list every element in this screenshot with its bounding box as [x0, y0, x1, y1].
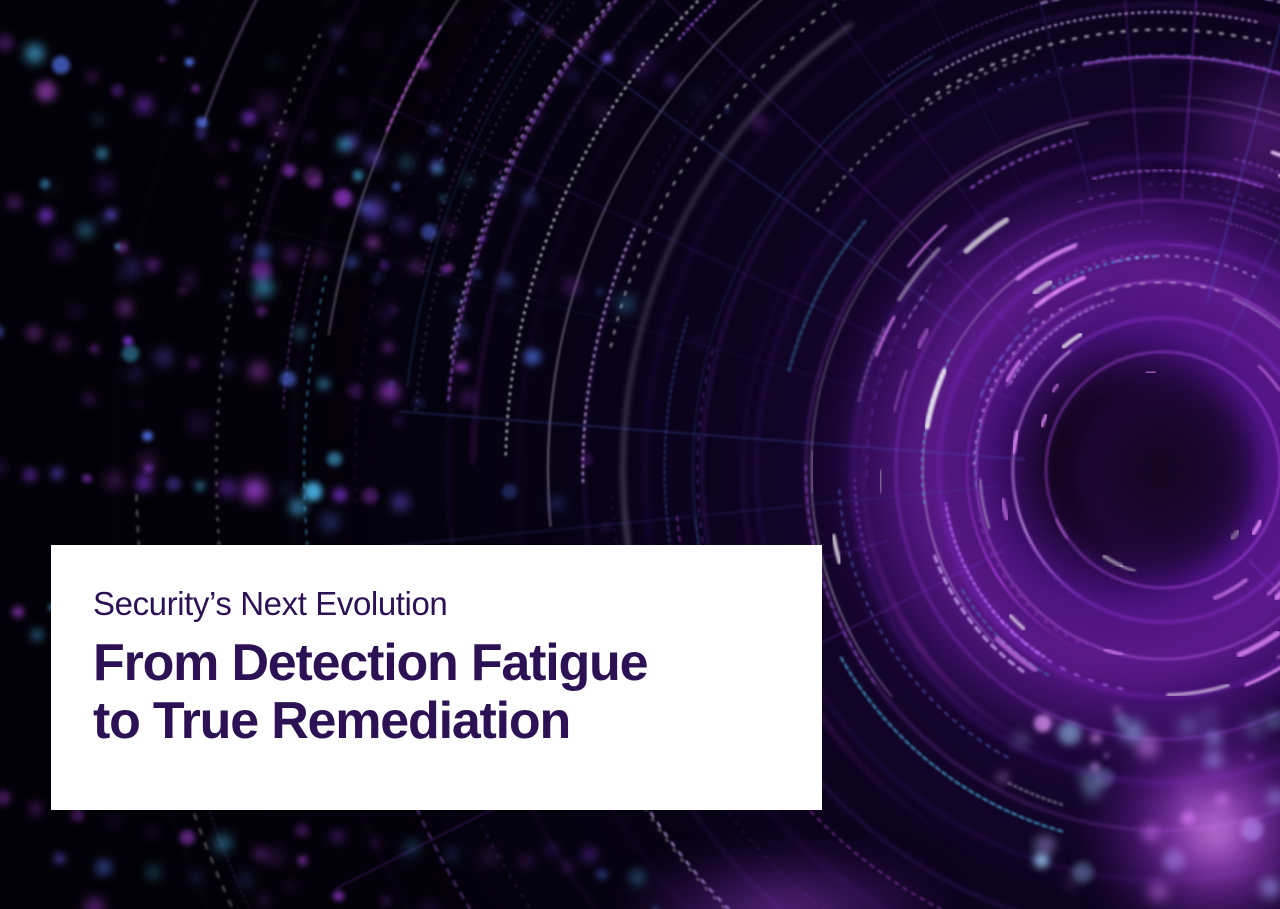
bokeh-dot	[332, 831, 343, 842]
bokeh-dot	[124, 260, 140, 276]
bokeh-dot	[1014, 733, 1028, 747]
bokeh-dot	[224, 293, 230, 299]
bokeh-dot	[697, 338, 702, 343]
bokeh-dot	[367, 150, 380, 163]
bokeh-dot	[289, 498, 307, 516]
bokeh-dot	[39, 208, 53, 222]
bokeh-dot	[397, 219, 408, 230]
bokeh-dot	[21, 408, 26, 413]
bokeh-dot	[513, 12, 523, 22]
bokeh-dot	[280, 371, 296, 387]
bokeh-dot	[360, 202, 371, 213]
bokeh-dot	[453, 297, 462, 306]
bokeh-dot	[111, 84, 124, 97]
bokeh-dot	[392, 182, 401, 191]
bokeh-dot	[88, 73, 96, 81]
bokeh-dot	[256, 149, 268, 161]
bokeh-dot	[94, 116, 101, 123]
bokeh-dot	[332, 176, 337, 181]
bokeh-dot	[1038, 836, 1054, 852]
bokeh-dot	[298, 856, 307, 865]
bokeh-dot	[254, 847, 267, 860]
bokeh-dot	[137, 98, 151, 112]
bokeh-dot	[533, 114, 540, 121]
bokeh-dot	[157, 351, 170, 364]
bokeh-dot	[287, 883, 293, 889]
bokeh-dot	[618, 296, 634, 312]
bokeh-dot	[227, 208, 233, 214]
bokeh-dot	[223, 361, 233, 371]
bokeh-dot	[285, 249, 297, 261]
bokeh-dot	[52, 56, 70, 74]
bokeh-dot	[1058, 722, 1081, 745]
bokeh-dot	[411, 262, 420, 271]
bokeh-dot	[108, 474, 120, 486]
bokeh-dot	[384, 343, 393, 352]
bokeh-dot	[441, 266, 449, 274]
bokeh-dot	[218, 177, 227, 186]
bokeh-dot	[419, 59, 429, 69]
bokeh-dot	[25, 44, 44, 63]
bokeh-dot	[82, 474, 91, 483]
bokeh-dot	[524, 193, 535, 204]
bokeh-dot	[267, 850, 281, 864]
bokeh-dot	[544, 28, 551, 35]
bokeh-dot	[431, 163, 443, 175]
bokeh-dot	[119, 302, 131, 314]
bokeh-dot	[353, 170, 364, 181]
bokeh-dot	[401, 157, 412, 168]
bokeh-dot	[0, 790, 11, 806]
bokeh-dot	[580, 453, 593, 466]
bokeh-dot	[48, 183, 58, 193]
bokeh-dot	[123, 336, 133, 346]
bokeh-dot	[596, 1, 601, 6]
bokeh-dot	[304, 482, 323, 501]
bokeh-dot	[293, 326, 307, 340]
hero-banner: Security’s Next Evolution From Detection…	[0, 0, 1280, 909]
bokeh-dot	[253, 296, 258, 301]
bokeh-dot	[508, 307, 512, 311]
bokeh-dot	[71, 808, 85, 822]
bokeh-dot	[71, 307, 79, 315]
bokeh-dot	[478, 235, 486, 243]
bokeh-dot	[9, 198, 19, 208]
bokeh-dot	[444, 224, 456, 236]
bokeh-dot	[1037, 713, 1055, 731]
bokeh-dot	[254, 278, 273, 297]
bokeh-dot	[380, 261, 389, 270]
bokeh-dot	[521, 856, 532, 867]
bokeh-dot	[344, 103, 354, 113]
bokeh-dot	[536, 280, 542, 286]
bokeh-dot	[473, 270, 481, 278]
bokeh-dot	[371, 838, 380, 847]
bokeh-dot	[400, 850, 411, 861]
bokeh-dot	[258, 96, 275, 113]
bokeh-dot	[362, 488, 378, 504]
bokeh-dot	[54, 853, 65, 864]
bokeh-dot	[463, 393, 473, 403]
bokeh-dot	[242, 111, 255, 124]
bokeh-dot	[369, 35, 379, 45]
bokeh-dot	[36, 81, 56, 101]
bokeh-dot	[694, 92, 703, 101]
bokeh-dot	[382, 897, 390, 905]
bokeh-dot	[1091, 733, 1101, 743]
bokeh-dot	[447, 850, 456, 859]
bokeh-dot	[166, 477, 181, 492]
bokeh-dot	[429, 125, 440, 136]
bokeh-dot	[423, 94, 429, 100]
bokeh-dot	[272, 124, 285, 137]
bokeh-dot	[502, 484, 517, 499]
bokeh-dot	[596, 288, 604, 296]
bokeh-dot	[259, 895, 269, 905]
bokeh-dot	[392, 307, 397, 312]
bokeh-dot	[465, 177, 471, 183]
bokeh-dot	[233, 237, 243, 247]
bokeh-dot	[122, 345, 139, 362]
bokeh-dot	[197, 129, 205, 137]
bokeh-dot	[295, 824, 309, 838]
bokeh-dot	[230, 141, 239, 150]
bokeh-dot	[99, 216, 108, 225]
bokeh-dot	[54, 241, 72, 259]
bokeh-dot	[256, 245, 270, 259]
bokeh-dot	[23, 468, 37, 482]
bokeh-dot	[57, 338, 67, 348]
bokeh-dot	[454, 16, 459, 21]
bokeh-dot	[31, 629, 43, 641]
bokeh-dot	[755, 118, 764, 127]
headline-line-1: From Detection Fatigue	[93, 634, 822, 692]
bokeh-dot	[147, 259, 159, 271]
bokeh-dot	[395, 418, 401, 424]
bokeh-dot	[99, 178, 111, 190]
bokeh-dot	[185, 275, 194, 284]
bokeh-dot	[0, 463, 2, 472]
bokeh-dot	[251, 484, 259, 492]
bokeh-dot	[997, 772, 1008, 783]
bokeh-dot	[667, 77, 675, 85]
bokeh-dot	[210, 145, 216, 151]
bokeh-dot	[196, 117, 207, 128]
bokeh-dot	[332, 29, 339, 36]
bokeh-dot	[283, 164, 297, 178]
bokeh-dot	[108, 817, 118, 827]
bokeh-dot	[565, 279, 579, 293]
headline-card: Security’s Next Evolution From Detection…	[51, 545, 822, 810]
bokeh-dot	[440, 196, 445, 201]
bokeh-dot	[167, 0, 178, 4]
bokeh-dot	[557, 200, 563, 206]
bokeh-dot	[251, 364, 265, 378]
bokeh-dot	[149, 868, 159, 878]
bokeh-dot	[192, 85, 199, 92]
bokeh-dot	[85, 898, 104, 909]
bokeh-dot	[334, 189, 352, 207]
bokeh-dot	[567, 70, 580, 83]
bokeh-dot	[316, 254, 324, 262]
bokeh-dot	[282, 485, 291, 494]
bokeh-dot	[638, 52, 654, 68]
bokeh-dot	[180, 830, 195, 845]
bokeh-dot	[333, 891, 344, 902]
bokeh-dot	[179, 288, 186, 295]
bokeh-dot	[149, 829, 155, 835]
bokeh-dot	[306, 132, 314, 140]
bokeh-dot	[551, 497, 563, 509]
bokeh-dot	[134, 400, 141, 407]
bokeh-dot	[137, 476, 151, 490]
bokeh-dot	[1034, 853, 1048, 867]
bokeh-dot	[191, 872, 202, 883]
bokeh-dot	[322, 514, 338, 530]
bokeh-dot	[414, 398, 423, 407]
bokeh-dot	[318, 379, 329, 390]
bokeh-dot	[345, 256, 357, 268]
bokeh-dot	[191, 417, 204, 430]
bokeh-dot	[195, 481, 205, 491]
bokeh-dot	[524, 349, 541, 366]
bokeh-dot	[425, 904, 433, 909]
bokeh-dot	[97, 861, 110, 874]
bokeh-dot	[240, 264, 247, 271]
bokeh-dot	[118, 274, 124, 280]
bokeh-dot	[562, 861, 572, 871]
bokeh-dot	[598, 871, 605, 878]
bokeh-dot	[1067, 878, 1077, 888]
bokeh-dot	[257, 307, 265, 315]
bokeh-dot	[190, 359, 198, 367]
bokeh-dot	[421, 224, 437, 240]
bokeh-dot	[220, 481, 235, 496]
bokeh-dot	[90, 345, 99, 354]
bokeh-dot	[543, 843, 558, 858]
bokeh-dot	[185, 58, 194, 67]
bokeh-dot	[600, 522, 610, 532]
bokeh-dot	[456, 326, 467, 337]
bokeh-dot	[392, 494, 409, 511]
bokeh-dot	[52, 468, 63, 479]
bokeh-dot	[579, 39, 587, 47]
bokeh-dot	[420, 28, 425, 33]
tunnel-core	[1085, 390, 1250, 565]
bokeh-dot	[142, 431, 153, 442]
bokeh-dot	[0, 326, 3, 337]
bokeh-dot	[338, 138, 351, 151]
bokeh-dot	[130, 370, 140, 380]
bokeh-dot	[333, 488, 348, 503]
bokeh-dot	[173, 27, 181, 35]
bokeh-dot	[380, 308, 390, 318]
bokeh-dot	[97, 148, 108, 159]
bokeh-dot	[635, 68, 643, 76]
bokeh-dot	[239, 873, 252, 886]
bokeh-dot	[595, 107, 606, 118]
bokeh-dot	[159, 56, 165, 62]
headline-line-2: to True Remediation	[93, 692, 822, 750]
bokeh-dot	[483, 850, 497, 864]
card-eyebrow: Security’s Next Evolution	[93, 587, 822, 620]
bokeh-dot	[583, 848, 596, 861]
bokeh-dot	[348, 384, 362, 398]
bokeh-dot	[338, 67, 345, 74]
bokeh-dot	[79, 224, 91, 236]
bokeh-dot	[84, 394, 94, 404]
card-headline: From Detection Fatigue to True Remediati…	[93, 634, 822, 750]
bokeh-dot	[13, 607, 23, 617]
bokeh-dot	[270, 59, 277, 66]
bokeh-dot	[0, 37, 11, 49]
bokeh-dot	[500, 275, 512, 287]
bokeh-dot	[373, 274, 381, 282]
bokeh-dot	[725, 107, 730, 112]
bokeh-dot	[170, 113, 179, 122]
bokeh-dot	[602, 53, 612, 63]
bokeh-dot	[216, 836, 230, 850]
bokeh-dot	[26, 325, 42, 341]
bokeh-dot	[30, 803, 41, 814]
bokeh-dot	[327, 452, 342, 467]
bokeh-dot	[140, 455, 155, 470]
bokeh-dot	[368, 237, 378, 247]
bokeh-dot	[493, 181, 506, 194]
